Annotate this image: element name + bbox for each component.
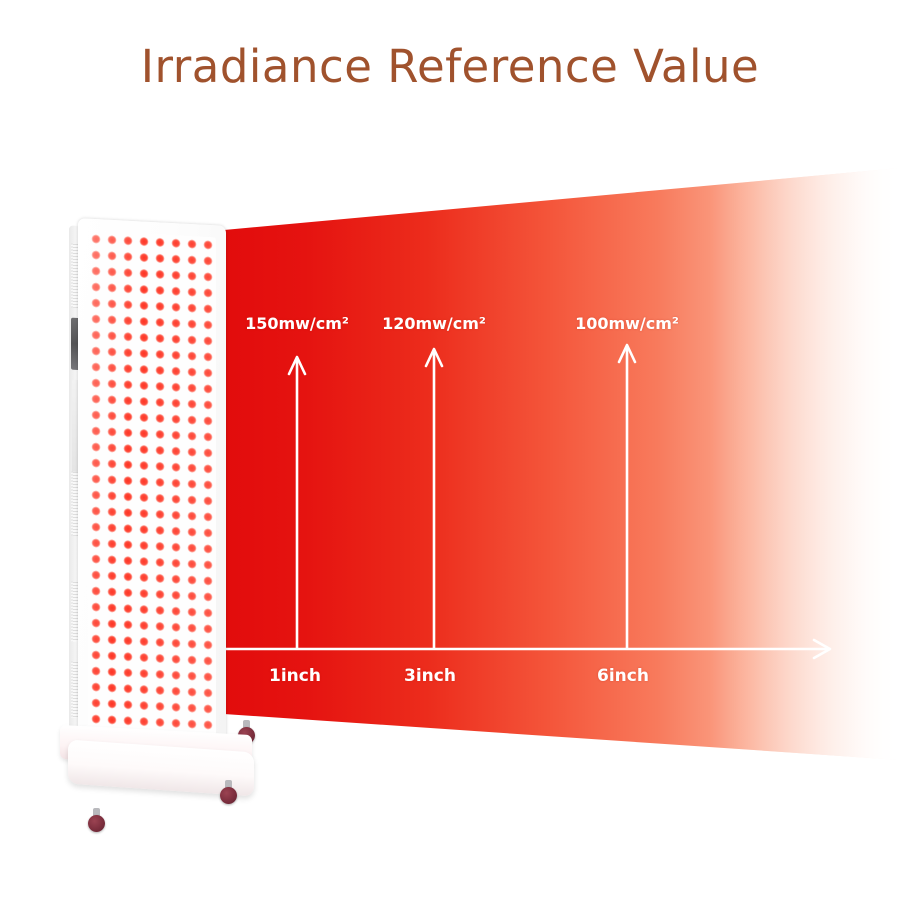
irradiance-arrow-3inch — [426, 349, 442, 648]
irradiance-arrow-1inch — [289, 357, 305, 648]
value-label-1inch: 150mw/cm² — [245, 314, 349, 333]
irradiance-arrow-6inch — [619, 345, 635, 648]
value-label-3inch: 120mw/cm² — [382, 314, 486, 333]
red-light-therapy-panel — [52, 222, 242, 842]
distance-axis — [226, 640, 830, 658]
value-label-6inch: 100mw/cm² — [575, 314, 679, 333]
axis-tick-1inch: 1inch — [269, 666, 321, 686]
axis-tick-6inch: 6inch — [597, 666, 649, 686]
caster-wheel — [220, 780, 237, 804]
led-array — [88, 231, 216, 738]
caster-wheel — [88, 808, 105, 832]
screenshot-canvas: Irradiance Reference Value — [0, 0, 900, 900]
axis-tick-3inch: 3inch — [404, 666, 456, 686]
